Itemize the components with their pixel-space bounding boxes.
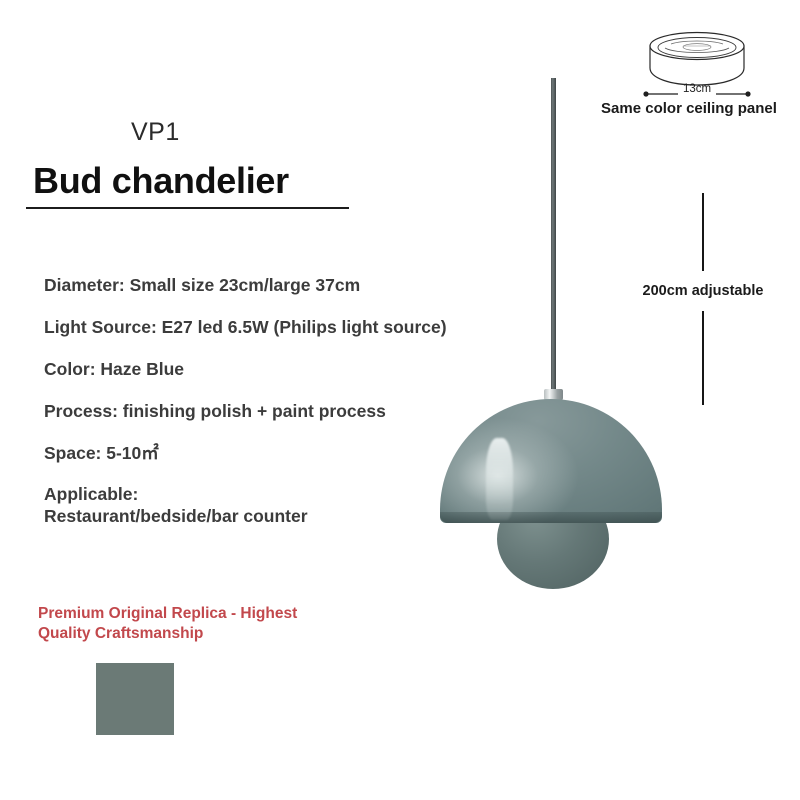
spec-diameter: Diameter: Small size 23cm/large 37cm	[44, 275, 514, 297]
cord-length-label: 200cm adjustable	[624, 284, 782, 299]
cord-measure-line-lower	[702, 311, 704, 405]
lamp-cord	[551, 78, 556, 393]
ceiling-panel-icon	[645, 28, 749, 90]
model-code: VP1	[131, 120, 180, 145]
ceiling-panel-caption: Same color ceiling panel	[586, 100, 792, 118]
spec-space: Space: 5-10㎡	[44, 443, 514, 465]
color-swatch	[96, 663, 174, 735]
dimension-label-13cm: 13cm	[641, 84, 753, 96]
spec-color: Color: Haze Blue	[44, 359, 514, 381]
lamp-dome-highlight	[486, 438, 513, 520]
lamp-dome-rim	[440, 512, 662, 523]
title-underline-divider	[26, 207, 349, 209]
promo-tagline: Premium Original Replica - Highest Quali…	[38, 604, 378, 644]
cord-measure-line-upper	[702, 193, 704, 271]
ceiling-panel-illustration	[645, 28, 749, 90]
spec-light-source: Light Source: E27 led 6.5W (Philips ligh…	[44, 317, 514, 339]
spec-process: Process: finishing polish + paint proces…	[44, 401, 514, 423]
page-title: Bud chandelier	[33, 161, 289, 201]
product-infographic: VP1 Bud chandelier Diameter: Small size …	[0, 0, 800, 800]
